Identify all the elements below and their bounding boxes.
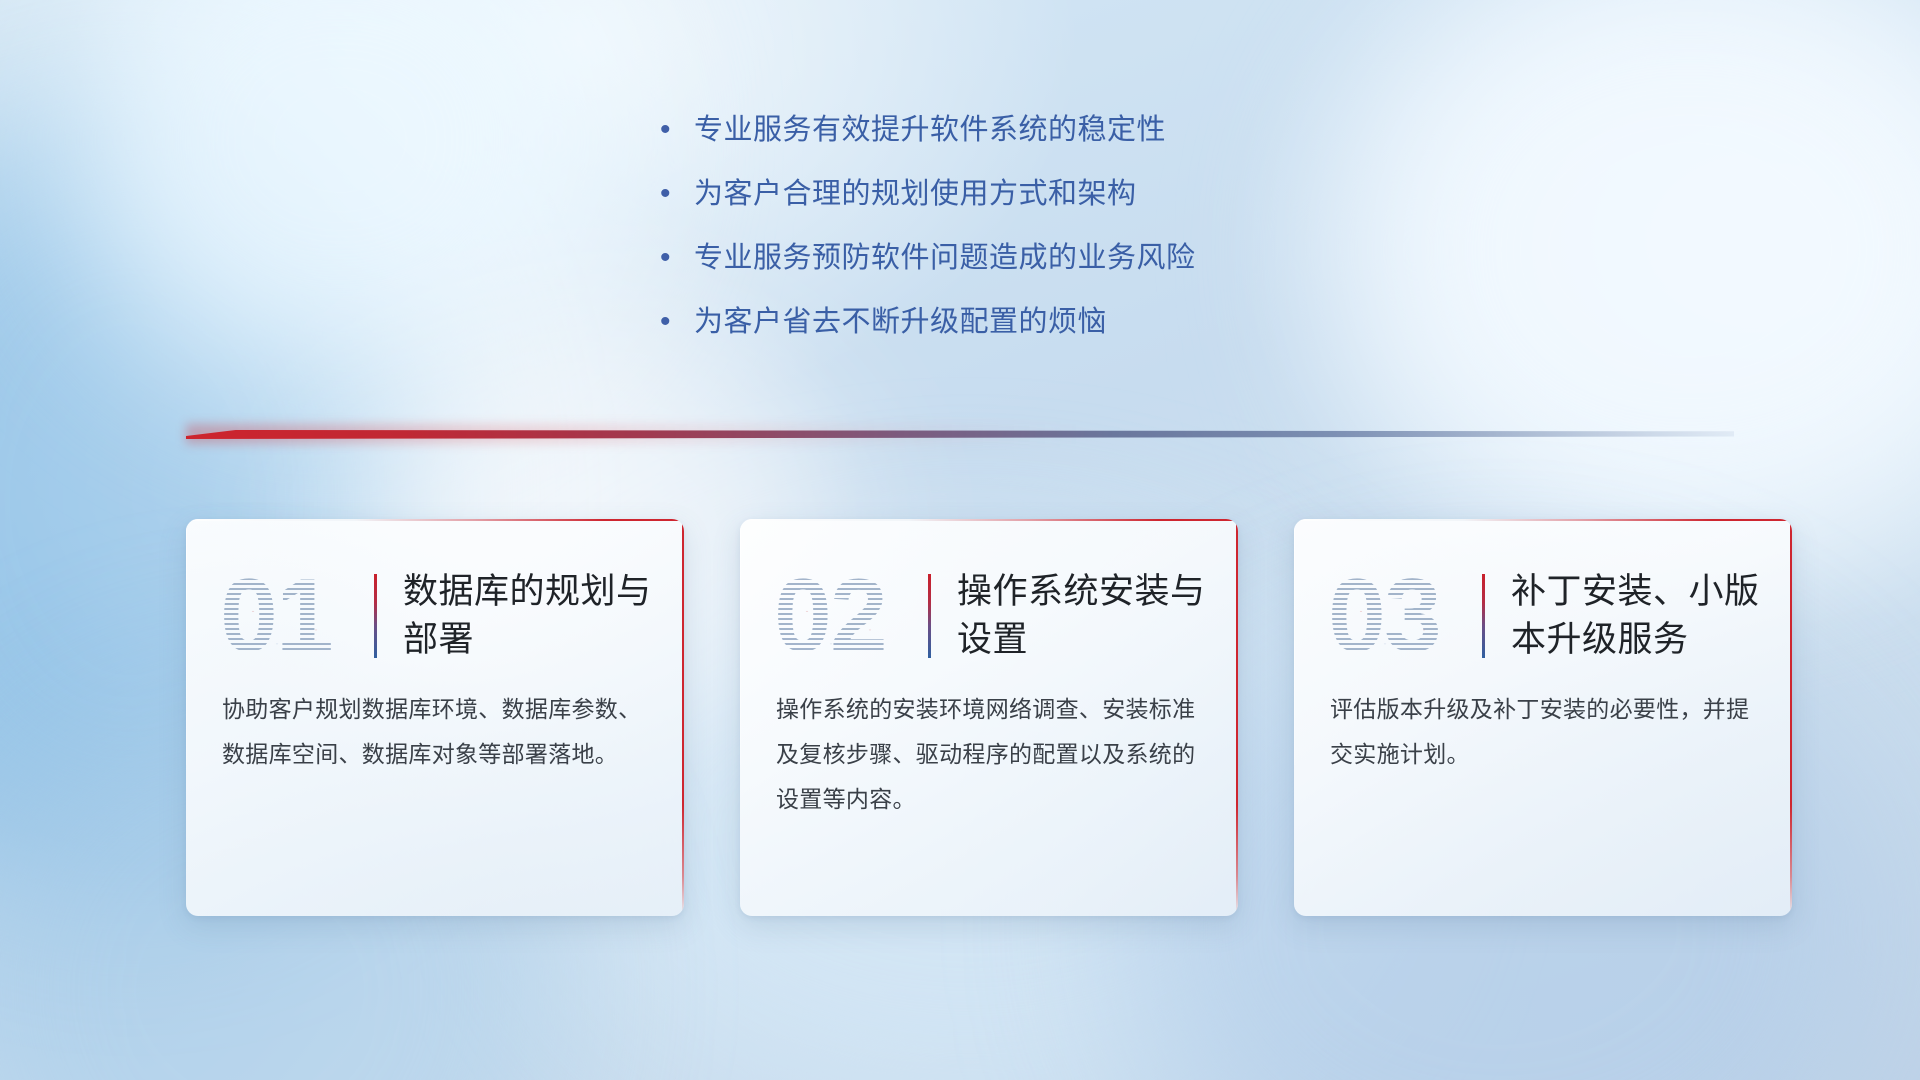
card-number: 02 <box>774 558 924 674</box>
section-divider <box>186 424 1734 446</box>
bullet-text: 为客户合理的规划使用方式和架构 <box>694 172 1137 216</box>
background-blob <box>60 0 620 400</box>
card-body-text: 协助客户规划数据库环境、数据库参数、数据库空间、数据库对象等部署落地。 <box>186 679 684 777</box>
benefits-bullet-list: • 专业服务有效提升软件系统的稳定性 • 为客户合理的规划使用方式和架构 • 专… <box>660 108 1480 364</box>
divider-beam <box>186 430 1734 439</box>
card-title: 补丁安装、小版本升级服务 <box>1511 568 1762 664</box>
card-title: 操作系统安装与设置 <box>957 568 1208 664</box>
card-header: 03 补丁安装、小版本升级服务 <box>1294 519 1792 679</box>
service-cards-row: 01 数据库的规划与部署 协助客户规划数据库环境、数据库参数、数据库空间、数据库… <box>186 519 1796 916</box>
card-header: 02 操作系统安装与设置 <box>740 519 1238 679</box>
list-item: • 为客户合理的规划使用方式和架构 <box>660 172 1480 236</box>
card-number: 01 <box>220 558 370 674</box>
bullet-dot-icon: • <box>660 300 694 344</box>
slide-canvas: • 专业服务有效提升软件系统的稳定性 • 为客户合理的规划使用方式和架构 • 专… <box>0 0 1920 1080</box>
card-divider-rule <box>374 574 377 658</box>
card-header: 01 数据库的规划与部署 <box>186 519 684 679</box>
service-card-01[interactable]: 01 数据库的规划与部署 协助客户规划数据库环境、数据库参数、数据库空间、数据库… <box>186 519 684 916</box>
card-body-text: 操作系统的安装环境网络调查、安装标准及复核步骤、驱动程序的配置以及系统的设置等内… <box>740 679 1238 822</box>
service-card-02[interactable]: 02 操作系统安装与设置 操作系统的安装环境网络调查、安装标准及复核步骤、驱动程… <box>740 519 1238 916</box>
bullet-text: 专业服务有效提升软件系统的稳定性 <box>694 108 1166 152</box>
card-divider-rule <box>1482 574 1485 658</box>
bullet-text: 为客户省去不断升级配置的烦恼 <box>694 300 1107 344</box>
list-item: • 专业服务有效提升软件系统的稳定性 <box>660 108 1480 172</box>
card-body-text: 评估版本升级及补丁安装的必要性，并提交实施计划。 <box>1294 679 1792 777</box>
service-card-03[interactable]: 03 补丁安装、小版本升级服务 评估版本升级及补丁安装的必要性，并提交实施计划。 <box>1294 519 1792 916</box>
card-divider-rule <box>928 574 931 658</box>
bullet-dot-icon: • <box>660 236 694 280</box>
card-title: 数据库的规划与部署 <box>403 568 654 664</box>
card-number: 03 <box>1328 558 1478 674</box>
bullet-dot-icon: • <box>660 108 694 152</box>
list-item: • 专业服务预防软件问题造成的业务风险 <box>660 236 1480 300</box>
bullet-dot-icon: • <box>660 172 694 216</box>
list-item: • 为客户省去不断升级配置的烦恼 <box>660 300 1480 364</box>
bullet-text: 专业服务预防软件问题造成的业务风险 <box>694 236 1196 280</box>
